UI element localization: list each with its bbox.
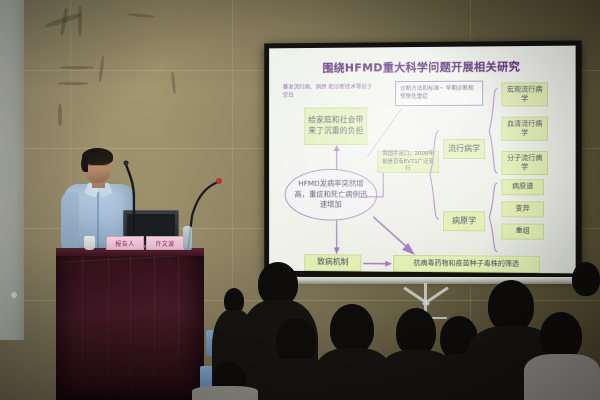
audience-head [488, 280, 534, 332]
brace-etiology [487, 181, 499, 253]
audience-head [540, 312, 582, 360]
arrow-mechanism-to-screening [363, 259, 393, 269]
speaker-shirt-placket [97, 192, 99, 250]
speaker-glasses [86, 165, 109, 170]
slide-left-note: 暴发流行病、病原 和诊断技术等处于空白 [283, 83, 373, 100]
audience-body-light-shirt [524, 354, 600, 400]
connector-mid-box [363, 171, 393, 199]
wall-mark [58, 82, 88, 85]
lecture-hall-photo: 围绕HFMD重大科学问题开展相关研究 暴发流行病、病原 和诊断技术等处于空白 诊… [0, 0, 600, 400]
audience-head [396, 308, 436, 356]
slide-top-note: 诊断方法和标准~ 早期诊断和预警危重症 [395, 81, 483, 106]
podium [56, 250, 204, 400]
slide-mechanism-box: 致病机制 [304, 254, 361, 271]
slide-etio-child-0: 病原谱 [501, 179, 544, 195]
audience-body-light-shirt [192, 386, 258, 400]
slide-epi-child-1: 血清流行病学 [501, 117, 548, 141]
water-bottle [183, 226, 192, 250]
side-door [0, 0, 24, 340]
audience-head [330, 304, 374, 354]
slide-etio-child-1: 变异 [501, 201, 544, 217]
wall-mark [78, 6, 82, 36]
slide-branch-epidemiology-label: 流行病学 [443, 139, 485, 159]
wall-mark [58, 104, 62, 126]
connector-top-note [365, 105, 405, 159]
namecard-role: 报告人 [106, 236, 144, 250]
slide-branch-etiology-label: 病原学 [443, 211, 485, 231]
arrow-to-mechanism [332, 221, 342, 255]
slide-title: 围绕HFMD重大科学问题开展相关研究 [269, 58, 576, 76]
screen-surface: 围绕HFMD重大科学问题开展相关研究 暴发流行病、病原 和诊断技术等处于空白 诊… [269, 46, 576, 274]
slide-epi-child-2: 分子流行病学 [501, 151, 548, 175]
namecard-name: 许文波 [146, 236, 184, 250]
brace-main [427, 129, 441, 221]
slide-epi-child-0: 宏观流行病学 [501, 82, 548, 106]
speaker-arm [61, 192, 79, 250]
arrow-to-screening [371, 215, 417, 257]
slide-screening-box: 抗病毒药物和疫苗种子毒株的筛选 [393, 255, 540, 273]
door-knob [11, 292, 17, 298]
brace-epidemiology [487, 87, 499, 176]
projection-screen: 围绕HFMD重大科学问题开展相关研究 暴发流行病、病原 和诊断技术等处于空白 诊… [264, 40, 582, 279]
audience-body [262, 358, 332, 400]
wall-mark [60, 66, 94, 69]
arrow-burden-up [332, 145, 342, 171]
audience-head [572, 262, 600, 296]
presentation-slide: 围绕HFMD重大科学问题开展相关研究 暴发流行病、病原 和诊断技术等处于空白 诊… [269, 46, 576, 274]
slide-burden-box: 给家庭和社会带来了沉重的负担 [304, 107, 367, 145]
slide-etio-child-2: 重组 [501, 223, 544, 239]
paper-cup [84, 236, 95, 250]
